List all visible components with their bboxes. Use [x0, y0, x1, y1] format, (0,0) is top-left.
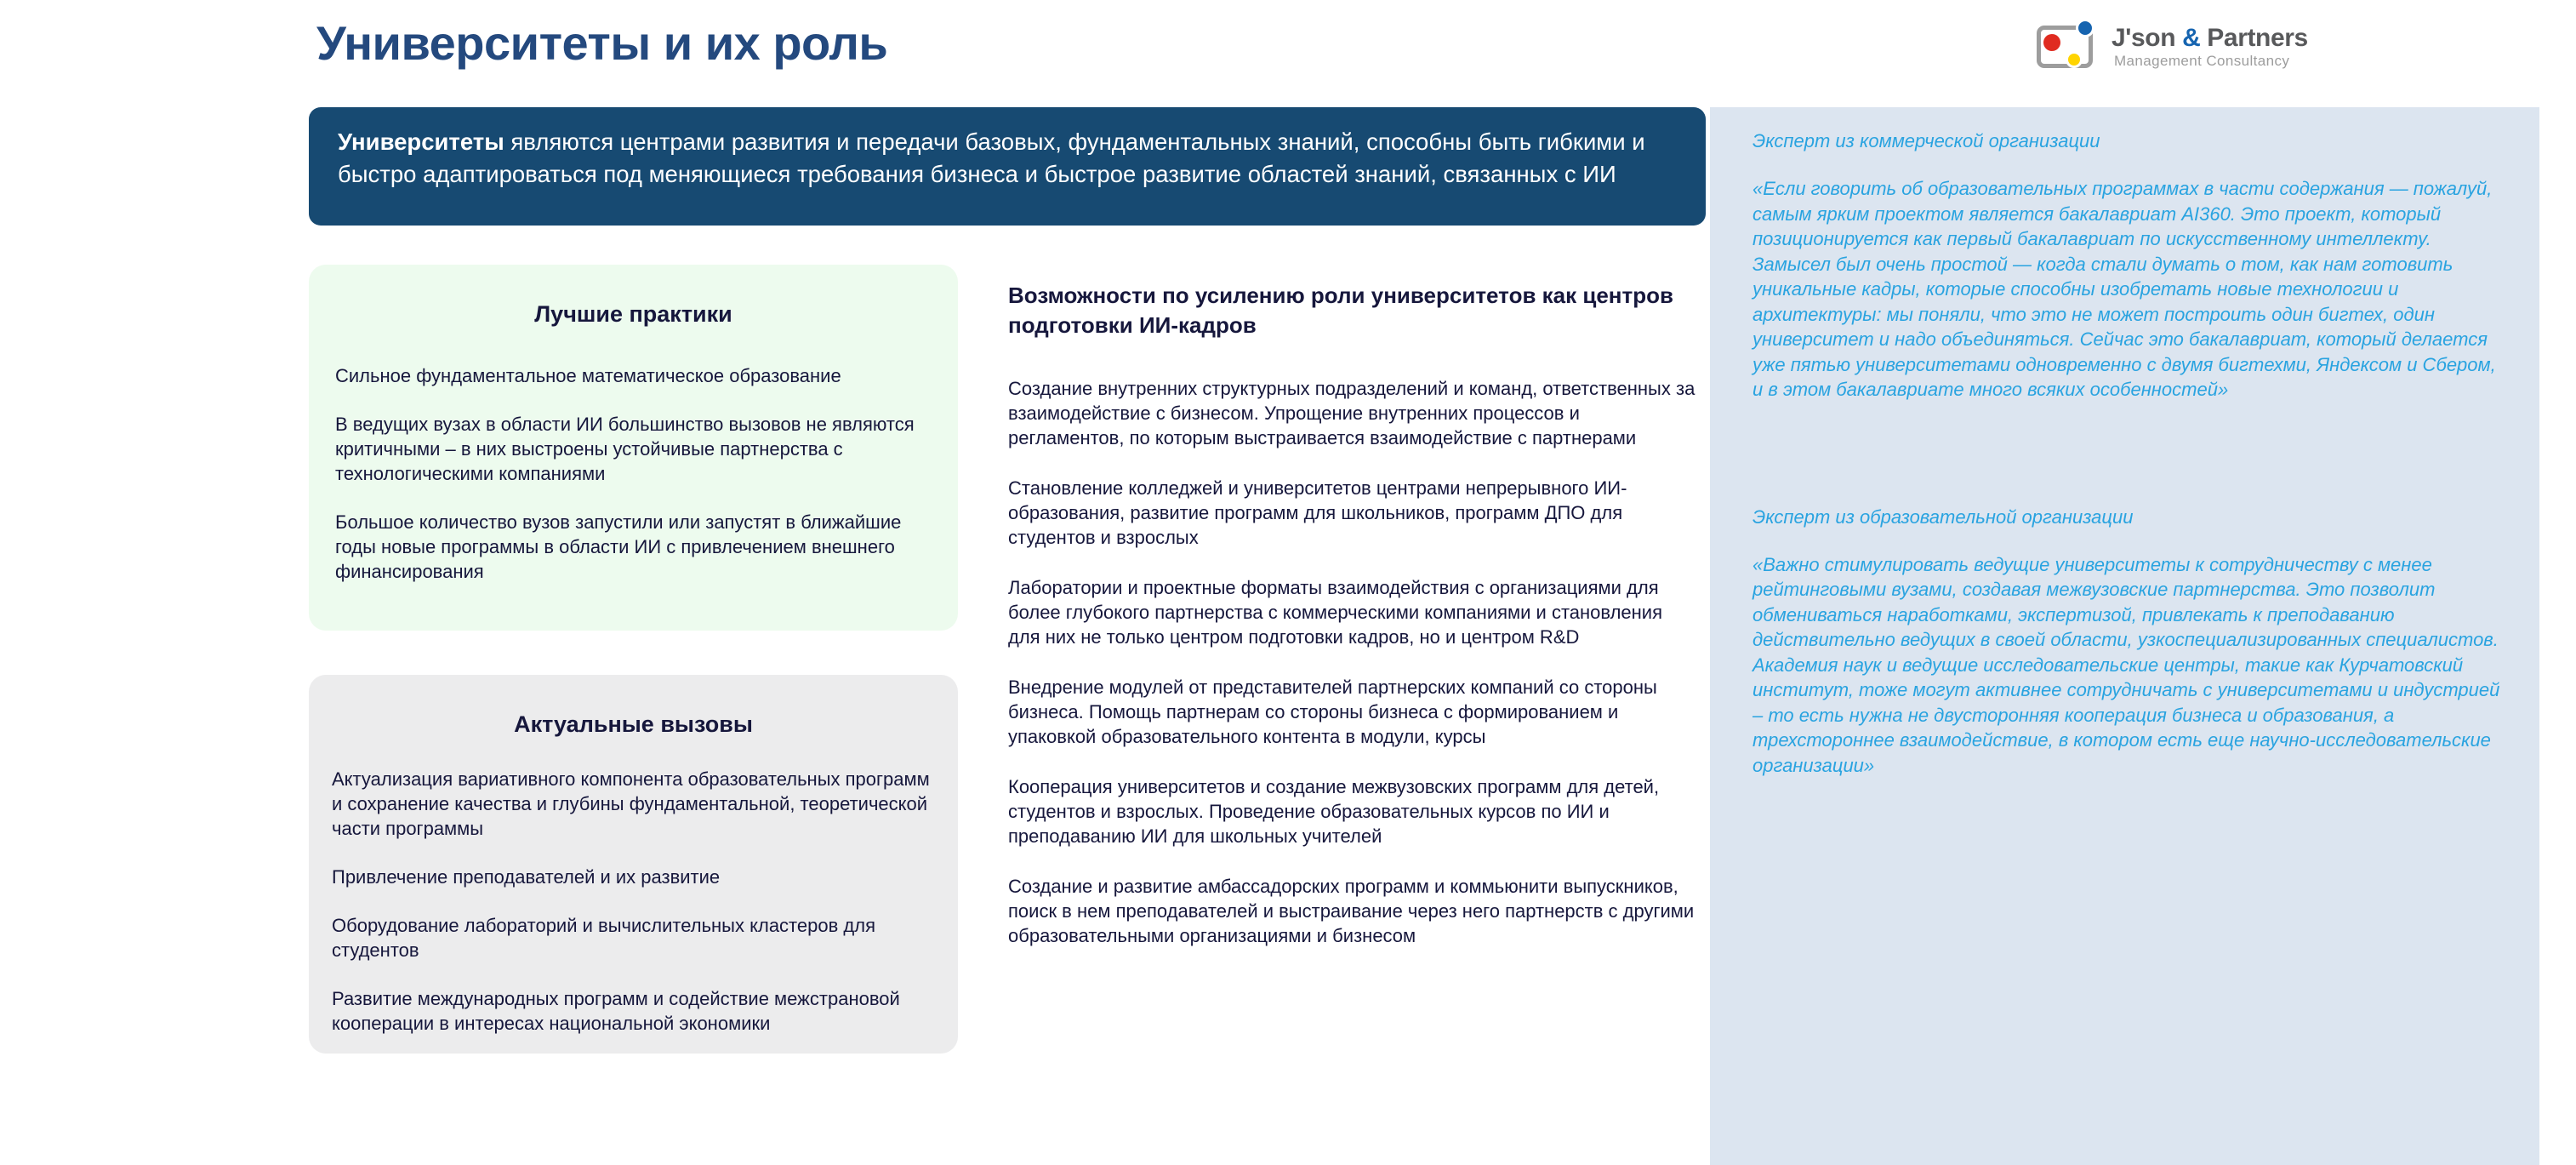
- expert-quote-block: Эксперт из образовательной организации «…: [1752, 505, 2500, 779]
- logo-dot-yellow-icon: [2066, 51, 2083, 68]
- company-logo: J'son & Partners Management Consultancy: [2033, 12, 2331, 78]
- logo-dot-blue-icon: [2076, 19, 2094, 37]
- list-item: В ведущих вузах в области ИИ большинство…: [335, 412, 932, 486]
- summary-banner-lead: Университеты: [338, 128, 504, 155]
- expert-quotes-panel: Эксперт из коммерческой организации «Есл…: [1710, 107, 2539, 1165]
- logo-mark-icon: [2033, 19, 2106, 71]
- logo-wordmark-post: Partners: [2200, 24, 2307, 52]
- logo-dot-red-icon: [2043, 34, 2060, 51]
- summary-banner: Университеты являются центрами развития …: [309, 107, 1706, 226]
- expert-quote-label: Эксперт из образовательной организации: [1752, 505, 2500, 530]
- logo-wordmark-amp: &: [2182, 24, 2200, 52]
- expert-quote-text: «Если говорить об образовательных програ…: [1752, 176, 2500, 403]
- page-title: Университеты и их роль: [316, 15, 887, 71]
- list-item: Оборудование лабораторий и вычислительны…: [332, 913, 935, 962]
- opportunities-paragraph: Лаборатории и проектные форматы взаимоде…: [1008, 575, 1697, 649]
- summary-banner-text: Университеты являются центрами развития …: [338, 126, 1677, 191]
- logo-wordmark: J'son & Partners: [2112, 24, 2308, 53]
- opportunities-paragraph: Внедрение модулей от представителей парт…: [1008, 675, 1697, 749]
- expert-quote-text: «Важно стимулировать ведущие университет…: [1752, 552, 2500, 779]
- list-item: Большое количество вузов запустили или з…: [335, 510, 932, 584]
- list-item: Развитие международных программ и содейс…: [332, 986, 935, 1036]
- opportunities-paragraph: Создание и развитие амбассадорских прогр…: [1008, 874, 1697, 948]
- slide-root: Университеты и их роль J'son & Partners …: [0, 0, 2576, 1165]
- current-challenges-title: Актуальные вызовы: [309, 675, 958, 738]
- expert-quote-block: Эксперт из коммерческой организации «Есл…: [1752, 128, 2500, 403]
- opportunities-paragraph: Становление колледжей и университетов це…: [1008, 476, 1697, 550]
- list-item: Сильное фундаментальное математическое о…: [335, 363, 932, 388]
- logo-wordmark-pre: J'son: [2112, 24, 2182, 52]
- current-challenges-list: Актуализация вариативного компонента обр…: [309, 738, 958, 1036]
- current-challenges-card: Актуальные вызовы Актуализация вариативн…: [309, 675, 958, 1054]
- opportunities-heading: Возможности по усилению роли университет…: [1008, 281, 1697, 340]
- opportunities-column: Возможности по усилению роли университет…: [1008, 281, 1697, 948]
- list-item: Актуализация вариативного компонента обр…: [332, 767, 935, 841]
- best-practices-card: Лучшие практики Сильное фундаментальное …: [309, 265, 958, 631]
- expert-quote-label: Эксперт из коммерческой организации: [1752, 128, 2500, 154]
- logo-tagline: Management Consultancy: [2114, 53, 2289, 70]
- best-practices-list: Сильное фундаментальное математическое о…: [309, 328, 958, 584]
- best-practices-title: Лучшие практики: [309, 265, 958, 328]
- opportunities-paragraph: Кооперация университетов и создание межв…: [1008, 774, 1697, 848]
- list-item: Привлечение преподавателей и их развитие: [332, 865, 935, 889]
- summary-banner-rest: являются центрами развития и передачи ба…: [338, 128, 1645, 187]
- opportunities-paragraph: Создание внутренних структурных подразде…: [1008, 376, 1697, 450]
